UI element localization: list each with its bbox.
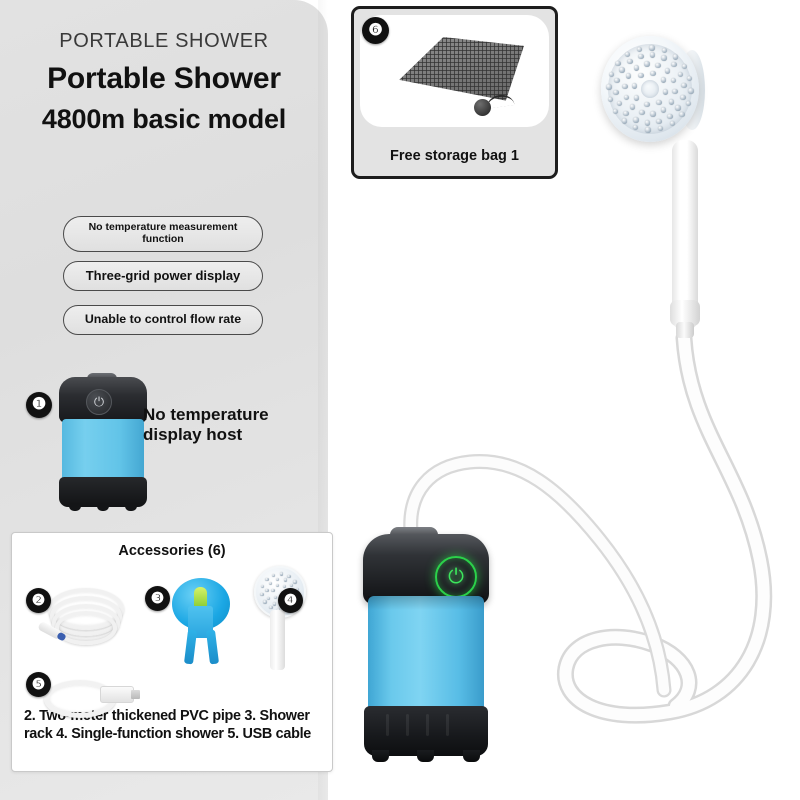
- nozzle-hole-icon: [622, 118, 628, 124]
- shower-head-center-boss: [641, 80, 659, 98]
- product-eyebrow: PORTABLE SHOWER: [0, 30, 328, 53]
- nozzle-hole-icon: [276, 584, 279, 587]
- feature-pill-label: Three-grid power display: [86, 269, 241, 284]
- shower-hose-connector: [676, 322, 694, 338]
- power-button-icon[interactable]: ⏻: [435, 556, 477, 598]
- nozzle-hole-icon: [663, 89, 669, 95]
- nozzle-hole-icon: [661, 77, 667, 83]
- nozzle-hole-icon: [656, 119, 662, 125]
- nozzle-hole-icon: [671, 62, 677, 68]
- badge-5-usb-cable: ❺: [26, 672, 51, 697]
- nozzle-hole-icon: [287, 575, 290, 578]
- power-button-icon: ⏻: [86, 389, 112, 415]
- feature-pill-power-display: Three-grid power display: [63, 261, 263, 291]
- nozzle-hole-icon: [678, 72, 684, 78]
- nozzle-hole-icon: [293, 580, 296, 583]
- nozzle-hole-icon: [688, 88, 694, 94]
- host-top-shell: ⏻: [59, 377, 147, 423]
- single-function-shower-head-image: [250, 566, 306, 670]
- nozzle-hole-icon: [625, 52, 631, 58]
- nozzle-hole-icon: [681, 83, 687, 89]
- shower-head-disc: [601, 36, 699, 142]
- nozzle-hole-icon: [267, 597, 270, 600]
- nozzle-hole-icon: [655, 63, 661, 69]
- nozzle-hole-icon: [639, 110, 645, 116]
- nozzle-hole-icon: [274, 596, 277, 599]
- nozzle-hole-icon: [280, 572, 283, 575]
- nozzle-hole-icon: [626, 73, 632, 79]
- nozzle-hole-icon: [265, 578, 268, 581]
- badge-1-host: ❶: [26, 392, 52, 418]
- usb-plug-icon: [100, 686, 134, 703]
- nozzle-hole-icon: [630, 104, 636, 110]
- usb-cable-image: [44, 676, 140, 716]
- nozzle-hole-icon: [649, 45, 655, 51]
- pump-foot: [417, 750, 434, 762]
- nozzle-hole-icon: [669, 99, 675, 105]
- pump-blue-body: [368, 596, 484, 712]
- pump-unit-large-image: ⏻: [360, 530, 492, 768]
- feature-pill-no-temperature: No temperature measurement function: [63, 216, 263, 252]
- nozzle-hole-icon: [276, 578, 279, 581]
- nozzle-hole-icon: [645, 120, 651, 126]
- badge-6-storage-bag: ❻: [362, 17, 389, 44]
- accessories-title: Accessories (6): [12, 543, 332, 559]
- pvc-hose-coil-image: [44, 586, 120, 644]
- host-unit-small-image: ⏻: [57, 377, 149, 507]
- nozzle-hole-icon: [680, 95, 686, 101]
- nozzle-hole-icon: [623, 111, 629, 117]
- nozzle-hole-icon: [627, 59, 633, 65]
- host-foot: [125, 503, 137, 511]
- shower-rack-image: [166, 578, 236, 666]
- nozzle-hole-icon: [608, 97, 614, 103]
- mesh-bag-toggle-icon: [474, 99, 491, 116]
- product-title-line2: 4800m basic model: [0, 104, 328, 135]
- host-label: No temperature display host: [143, 405, 313, 446]
- nozzle-hole-icon: [606, 84, 612, 90]
- nozzle-hole-icon: [661, 107, 667, 113]
- nozzle-hole-icon: [670, 121, 676, 127]
- nozzle-hole-icon: [615, 61, 621, 67]
- nozzle-hole-icon: [622, 84, 628, 90]
- product-title-line1: Portable Shower: [0, 62, 328, 96]
- nozzle-hole-icon: [609, 72, 615, 78]
- nozzle-hole-icon: [686, 101, 692, 107]
- nozzle-hole-icon: [634, 65, 640, 71]
- storage-bag-box: ❻ Free storage bag 1: [351, 6, 558, 179]
- nozzle-hole-icon: [682, 64, 688, 70]
- badge-3-shower-rack: ❸: [145, 586, 170, 611]
- shower-head-handle: [270, 610, 285, 670]
- nozzle-hole-icon: [687, 76, 693, 82]
- nozzle-hole-icon: [617, 101, 623, 107]
- pump-foot: [463, 750, 480, 762]
- nozzle-hole-icon: [613, 109, 619, 115]
- nozzle-hole-icon: [633, 125, 639, 131]
- rack-arm: [206, 630, 219, 665]
- feature-pill-label: Unable to control flow rate: [85, 313, 241, 327]
- mesh-storage-bag-image: [394, 37, 524, 121]
- nozzle-hole-icon: [272, 574, 275, 577]
- nozzle-hole-icon: [284, 578, 287, 581]
- nozzle-hole-icon: [644, 61, 650, 67]
- nozzle-hole-icon: [638, 73, 644, 79]
- nozzle-hole-icon: [656, 100, 662, 106]
- nozzle-hole-icon: [261, 585, 264, 588]
- nozzle-hole-icon: [673, 54, 679, 60]
- nozzle-hole-icon: [672, 89, 678, 95]
- nozzle-hole-icon: [290, 584, 293, 587]
- host-foot: [97, 503, 109, 511]
- badge-4-shower-head: ❹: [278, 588, 303, 613]
- nozzle-hole-icon: [650, 71, 656, 77]
- nozzle-hole-icon: [675, 105, 681, 111]
- nozzle-hole-icon: [667, 114, 673, 120]
- pump-top-shell: ⏻: [363, 534, 489, 604]
- nozzle-hole-icon: [661, 55, 667, 61]
- storage-bag-caption: Free storage bag 1: [354, 148, 555, 164]
- nozzle-hole-icon: [613, 90, 619, 96]
- nozzle-hole-icon: [644, 102, 650, 108]
- nozzle-hole-icon: [260, 593, 263, 596]
- badge-2-pvc-hose: ❷: [26, 588, 51, 613]
- host-base: [59, 477, 147, 507]
- nozzle-hole-icon: [658, 126, 664, 132]
- nozzle-hole-icon: [269, 606, 272, 609]
- nozzle-hole-icon: [665, 68, 671, 74]
- feature-pill-label: No temperature measurement function: [74, 222, 252, 246]
- nozzle-hole-icon: [632, 83, 638, 89]
- nozzle-hole-icon: [633, 117, 639, 123]
- nozzle-hole-icon: [645, 127, 651, 133]
- nozzle-hole-icon: [637, 47, 643, 53]
- nozzle-hole-icon: [273, 602, 276, 605]
- rack-arm: [184, 630, 197, 665]
- nozzle-hole-icon: [263, 600, 266, 603]
- host-blue-body: [62, 419, 144, 483]
- nozzle-hole-icon: [650, 52, 656, 58]
- nozzle-hole-icon: [614, 78, 620, 84]
- nozzle-hole-icon: [624, 95, 630, 101]
- nozzle-hole-icon: [671, 78, 677, 84]
- shower-head-large-image: [601, 36, 705, 156]
- nozzle-hole-icon: [634, 95, 640, 101]
- nozzle-hole-icon: [638, 54, 644, 60]
- nozzle-hole-icon: [662, 48, 668, 54]
- nozzle-hole-icon: [650, 111, 656, 117]
- nozzle-hole-icon: [271, 589, 274, 592]
- pump-base: [364, 706, 488, 756]
- nozzle-hole-icon: [269, 582, 272, 585]
- product-infographic: PORTABLE SHOWER Portable Shower 4800m ba…: [0, 0, 800, 800]
- host-foot: [69, 503, 81, 511]
- nozzle-hole-icon: [679, 112, 685, 118]
- nozzle-hole-icon: [619, 67, 625, 73]
- pump-foot: [372, 750, 389, 762]
- feature-pill-flow-rate: Unable to control flow rate: [63, 305, 263, 335]
- nozzle-hole-icon: [265, 589, 268, 592]
